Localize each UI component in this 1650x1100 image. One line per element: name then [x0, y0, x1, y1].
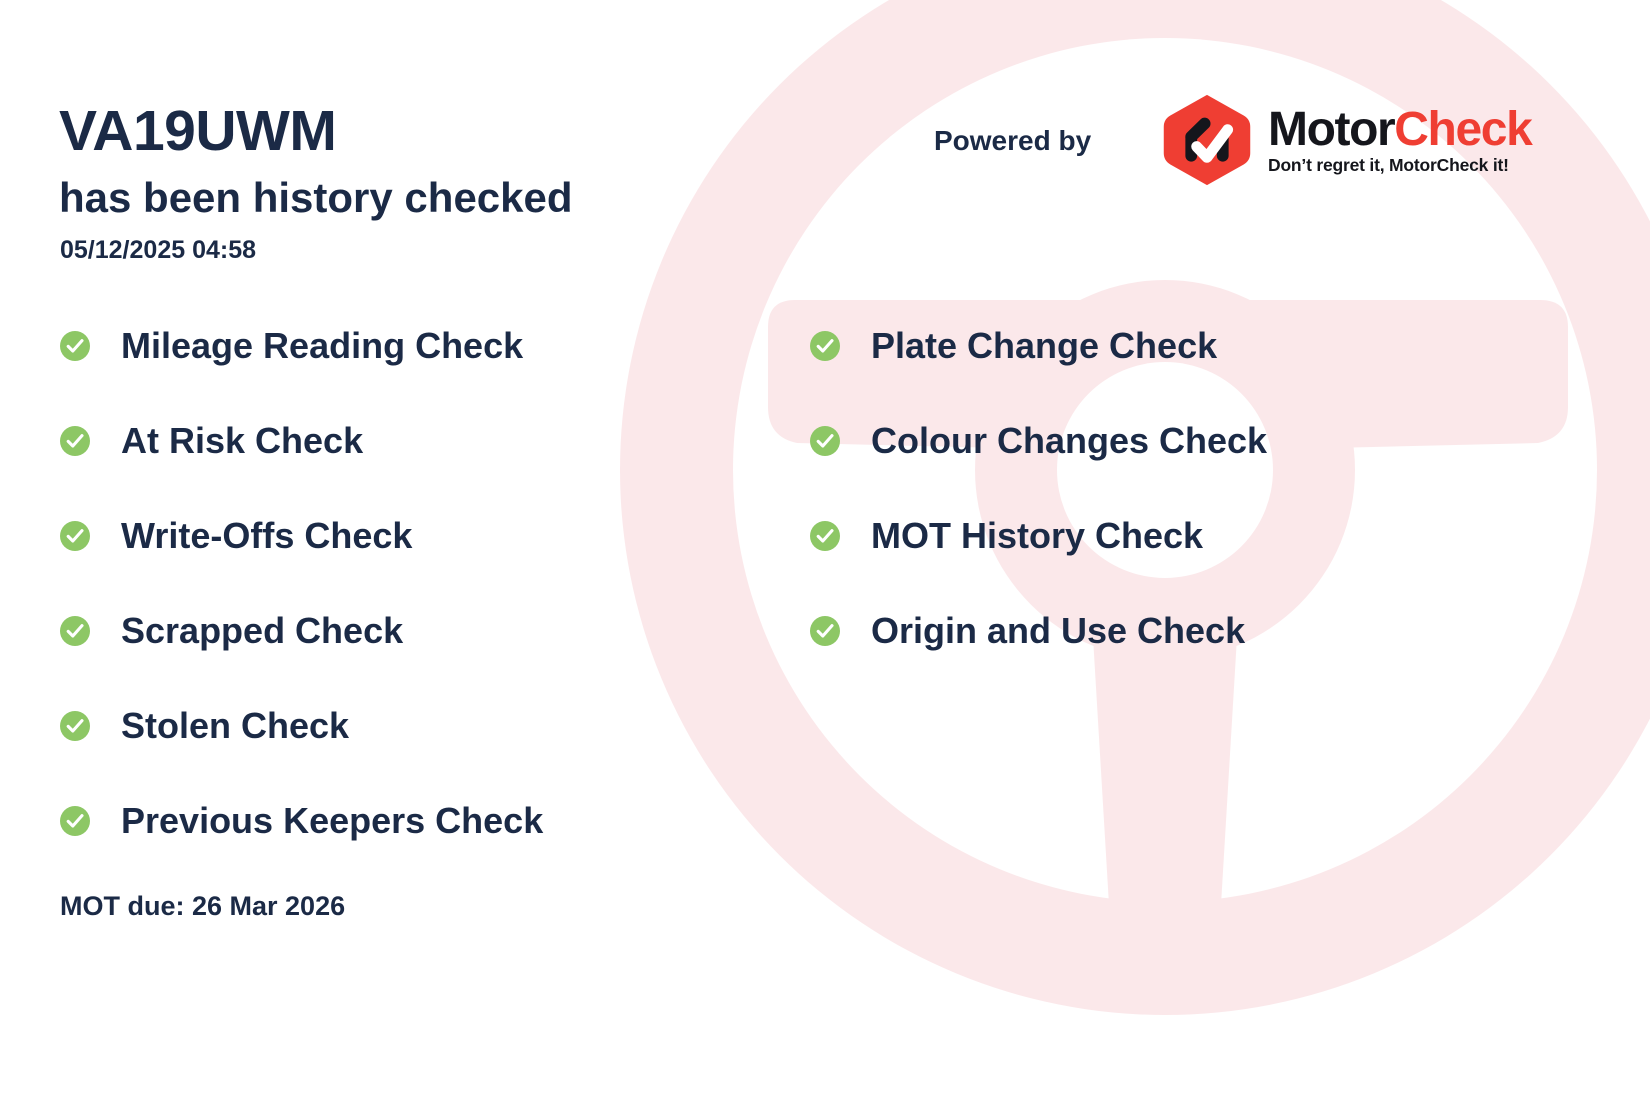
check-timestamp: 05/12/2025 04:58: [60, 238, 256, 263]
check-item-label: Write-Offs Check: [121, 518, 412, 554]
check-item-label: Origin and Use Check: [871, 613, 1245, 649]
motorcheck-hexagon-icon: [1160, 93, 1254, 187]
check-circle-icon: [810, 521, 840, 551]
check-circle-icon: [60, 331, 90, 361]
check-circle-icon: [60, 616, 90, 646]
check-item-label: Plate Change Check: [871, 328, 1217, 364]
check-item-label: Scrapped Check: [121, 613, 403, 649]
motorcheck-wordmark-group: MotorCheck Don’t regret it, MotorCheck i…: [1268, 106, 1531, 175]
check-item-label: Mileage Reading Check: [121, 328, 523, 364]
history-check-banner: VA19UWM has been history checked 05/12/2…: [0, 0, 1650, 1100]
checks-column-left: Mileage Reading CheckAt Risk CheckWrite-…: [60, 320, 543, 890]
check-circle-icon: [810, 331, 840, 361]
check-item[interactable]: Write-Offs Check: [60, 510, 543, 562]
motorcheck-logo[interactable]: MotorCheck Don’t regret it, MotorCheck i…: [1160, 93, 1531, 187]
check-circle-icon: [810, 426, 840, 456]
check-item[interactable]: MOT History Check: [810, 510, 1267, 562]
check-item[interactable]: Colour Changes Check: [810, 415, 1267, 467]
check-item-label: MOT History Check: [871, 518, 1203, 554]
check-circle-icon: [60, 711, 90, 741]
check-item[interactable]: Origin and Use Check: [810, 605, 1267, 657]
check-item[interactable]: Scrapped Check: [60, 605, 543, 657]
check-circle-icon: [810, 616, 840, 646]
vehicle-registration: VA19UWM: [59, 103, 336, 160]
page-subtitle: has been history checked: [59, 177, 573, 219]
check-item-label: Colour Changes Check: [871, 423, 1267, 459]
motorcheck-wordmark: MotorCheck: [1268, 106, 1531, 154]
check-item[interactable]: Previous Keepers Check: [60, 795, 543, 847]
check-item-label: Stolen Check: [121, 708, 349, 744]
check-item[interactable]: Mileage Reading Check: [60, 320, 543, 372]
check-item[interactable]: Plate Change Check: [810, 320, 1267, 372]
check-circle-icon: [60, 806, 90, 836]
check-item[interactable]: At Risk Check: [60, 415, 543, 467]
powered-by-label: Powered by: [934, 127, 1091, 155]
check-circle-icon: [60, 426, 90, 456]
checks-column-right: Plate Change CheckColour Changes CheckMO…: [810, 320, 1267, 700]
wordmark-motor: Motor: [1268, 103, 1394, 156]
wordmark-check: Check: [1394, 103, 1531, 156]
mot-due-text: MOT due: 26 Mar 2026: [60, 893, 345, 920]
brand-tagline: Don’t regret it, MotorCheck it!: [1268, 157, 1531, 175]
check-circle-icon: [60, 521, 90, 551]
check-item[interactable]: Stolen Check: [60, 700, 543, 752]
check-item-label: At Risk Check: [121, 423, 363, 459]
check-item-label: Previous Keepers Check: [121, 803, 543, 839]
